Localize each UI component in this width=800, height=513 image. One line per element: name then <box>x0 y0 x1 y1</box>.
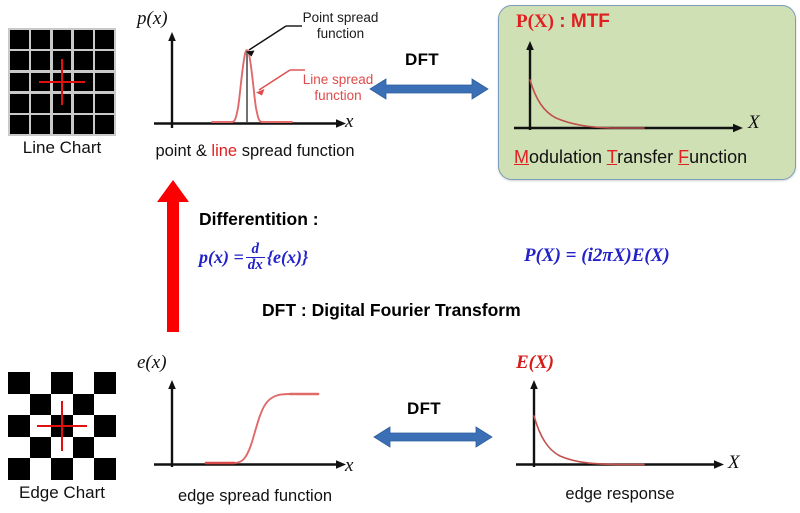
chart-cell <box>8 372 30 394</box>
chart-cell <box>95 73 114 92</box>
chart-cell <box>31 51 50 70</box>
chart-cell <box>73 458 95 480</box>
chart-cell <box>94 458 116 480</box>
chart-cell <box>10 73 29 92</box>
chart-cell <box>94 394 116 416</box>
dft-label-top: DFT <box>405 50 439 70</box>
chart-cell <box>30 372 52 394</box>
mtf-footer-hl-1: M <box>514 147 529 167</box>
chart-cell <box>73 372 95 394</box>
chart-cell <box>51 372 73 394</box>
derivative-numerator: d <box>246 242 265 257</box>
mtf-footer-rest-1: odulation <box>529 147 602 167</box>
differentiation-equation-lhs: p(x) = <box>199 247 244 267</box>
point-spread-annotation-line2: function <box>288 26 393 42</box>
chart-cell <box>74 94 93 113</box>
chart-cell <box>94 415 116 437</box>
crosshair-mark <box>61 59 63 105</box>
edge-response-y-axis-label: E(X) <box>516 352 554 374</box>
chart-cell <box>8 394 30 416</box>
mtf-footer-hl-3: F <box>678 147 689 167</box>
psf-x-axis-label: x <box>345 111 353 133</box>
edge-response-caption: edge response <box>520 485 720 504</box>
chart-cell <box>94 372 116 394</box>
dft-arrow-top <box>370 76 488 102</box>
psf-y-axis-label: p(x) <box>137 8 168 30</box>
crosshair-mark <box>61 401 63 451</box>
mtf-footer-hl-2: T <box>607 147 617 167</box>
dft-label-bottom: DFT <box>407 399 441 419</box>
differentiation-heading: Differentition : <box>199 209 319 230</box>
chart-cell <box>10 30 29 49</box>
differentiation-arrow <box>156 180 190 332</box>
chart-cell <box>8 415 30 437</box>
mtf-footer-rest-3: unction <box>689 147 747 167</box>
edge-chart-caption: Edge Chart <box>0 483 124 503</box>
chart-cell <box>95 51 114 70</box>
dft-definition: DFT : Digital Fourier Transform <box>262 300 521 321</box>
chart-cell <box>73 437 95 459</box>
mtf-x-axis-label: X <box>748 112 760 134</box>
chart-cell <box>95 30 114 49</box>
esf-plot <box>150 375 360 480</box>
chart-cell <box>8 458 30 480</box>
chart-cell <box>30 437 52 459</box>
chart-cell <box>30 458 52 480</box>
edge-response-x-axis-label: X <box>728 452 740 474</box>
esf-plot-caption: edge spread function <box>140 487 370 506</box>
chart-cell <box>95 115 114 134</box>
derivative-fraction: ddx <box>246 242 265 274</box>
chart-cell <box>74 115 93 134</box>
derivative-denominator: dx <box>246 257 265 274</box>
mtf-footer-rest-2: ransfer <box>617 147 673 167</box>
mtf-panel-footer: Modulation Transfer Function <box>514 147 747 168</box>
chart-cell <box>53 115 72 134</box>
psf-caption-part-3: spread function <box>237 142 354 160</box>
chart-cell <box>95 94 114 113</box>
chart-cell <box>31 115 50 134</box>
mtf-title-suffix: : MTF <box>554 11 610 32</box>
chart-cell <box>30 394 52 416</box>
chart-cell <box>74 30 93 49</box>
chart-cell <box>94 437 116 459</box>
chart-cell <box>73 394 95 416</box>
chart-cell <box>53 30 72 49</box>
esf-y-axis-label: e(x) <box>137 352 167 374</box>
fourier-relation-equation: P(X) = (i2πX)E(X) <box>524 245 670 267</box>
line-chart-target <box>8 28 116 136</box>
chart-cell <box>10 51 29 70</box>
psf-caption-part-1: point & <box>155 142 211 160</box>
edge-response-plot <box>512 375 752 480</box>
line-chart-caption: Line Chart <box>0 138 124 158</box>
mtf-title-symbol: P(X) <box>516 11 554 32</box>
chart-cell <box>51 458 73 480</box>
psf-plot-caption: point & line spread function <box>128 142 382 161</box>
chart-cell <box>31 30 50 49</box>
chart-cell <box>10 115 29 134</box>
mtf-plot <box>512 38 762 143</box>
chart-cell <box>8 437 30 459</box>
differentiation-equation-rhs: {e(x)} <box>267 247 309 267</box>
chart-cell <box>10 94 29 113</box>
differentiation-equation: p(x) =ddx{e(x)} <box>199 243 308 275</box>
psf-caption-part-2: line <box>211 142 237 160</box>
mtf-panel-title: P(X) : MTF <box>516 11 610 33</box>
point-spread-annotation-line1: Point spread <box>288 10 393 26</box>
esf-x-axis-label: x <box>345 455 353 477</box>
dft-arrow-bottom <box>374 424 492 450</box>
edge-chart-target <box>8 372 116 480</box>
point-spread-annotation: Point spread function <box>288 10 393 42</box>
chart-cell <box>31 94 50 113</box>
chart-cell <box>74 51 93 70</box>
